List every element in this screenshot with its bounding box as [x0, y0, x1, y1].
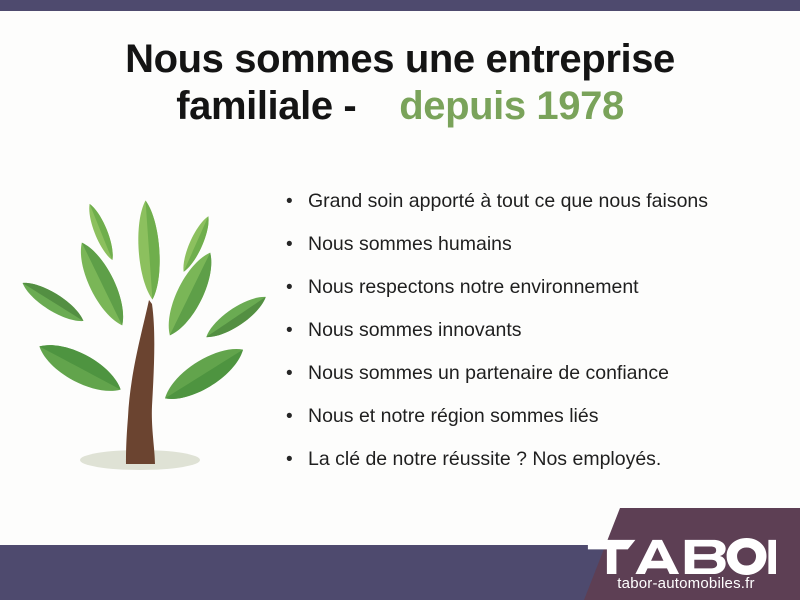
- tree-leaf: [135, 200, 163, 301]
- bullet-list: • Grand soin apporté à tout ce que nous …: [286, 190, 786, 491]
- bullet-marker-icon: •: [286, 407, 308, 426]
- bullet-marker-icon: •: [286, 450, 308, 469]
- tree-leaf: [33, 334, 128, 402]
- list-item-label: Grand soin apporté à tout ce que nous fa…: [308, 190, 708, 213]
- list-item-label: Nous et notre région sommes liés: [308, 405, 598, 428]
- list-item-label: Nous sommes innovants: [308, 319, 522, 342]
- list-item-label: La clé de notre réussite ? Nos employés.: [308, 448, 661, 471]
- brand-logo: tabor-automobiles.fr: [586, 536, 786, 592]
- title-line-2: familiale - depuis 1978: [0, 83, 800, 130]
- list-item: • Nous respectons notre environnement: [286, 276, 786, 319]
- title-line-2-plain: familiale -: [176, 84, 356, 128]
- list-item: • Nous sommes humains: [286, 233, 786, 276]
- bullet-marker-icon: •: [286, 321, 308, 340]
- list-item: • Nous sommes innovants: [286, 319, 786, 362]
- bullet-marker-icon: •: [286, 278, 308, 297]
- list-item-label: Nous respectons notre environnement: [308, 276, 639, 299]
- tree-leaf: [158, 338, 251, 410]
- tree-leaf: [22, 276, 88, 329]
- title-line-1: Nous sommes une entreprise: [0, 36, 800, 83]
- list-item-label: Nous sommes un partenaire de confiance: [308, 362, 669, 385]
- brand-url: tabor-automobiles.fr: [586, 575, 786, 592]
- top-accent-band: [0, 0, 800, 11]
- bullet-marker-icon: •: [286, 364, 308, 383]
- title-line-2-accent: depuis 1978: [399, 84, 624, 128]
- list-item: • La clé de notre réussite ? Nos employé…: [286, 448, 786, 491]
- bullet-marker-icon: •: [286, 192, 308, 211]
- list-item-label: Nous sommes humains: [308, 233, 512, 256]
- list-item: • Nous et notre région sommes liés: [286, 405, 786, 448]
- tree-illustration: [22, 192, 274, 484]
- tree-leaf: [201, 290, 270, 345]
- tree-trunk: [126, 300, 155, 464]
- slide-canvas: Nous sommes une entreprise familiale - d…: [0, 0, 800, 600]
- bullet-marker-icon: •: [286, 235, 308, 254]
- list-item: • Grand soin apporté à tout ce que nous …: [286, 190, 786, 233]
- tabor-wordmark-icon: [586, 536, 776, 576]
- page-title: Nous sommes une entreprise familiale - d…: [0, 36, 800, 130]
- list-item: • Nous sommes un partenaire de confiance: [286, 362, 786, 405]
